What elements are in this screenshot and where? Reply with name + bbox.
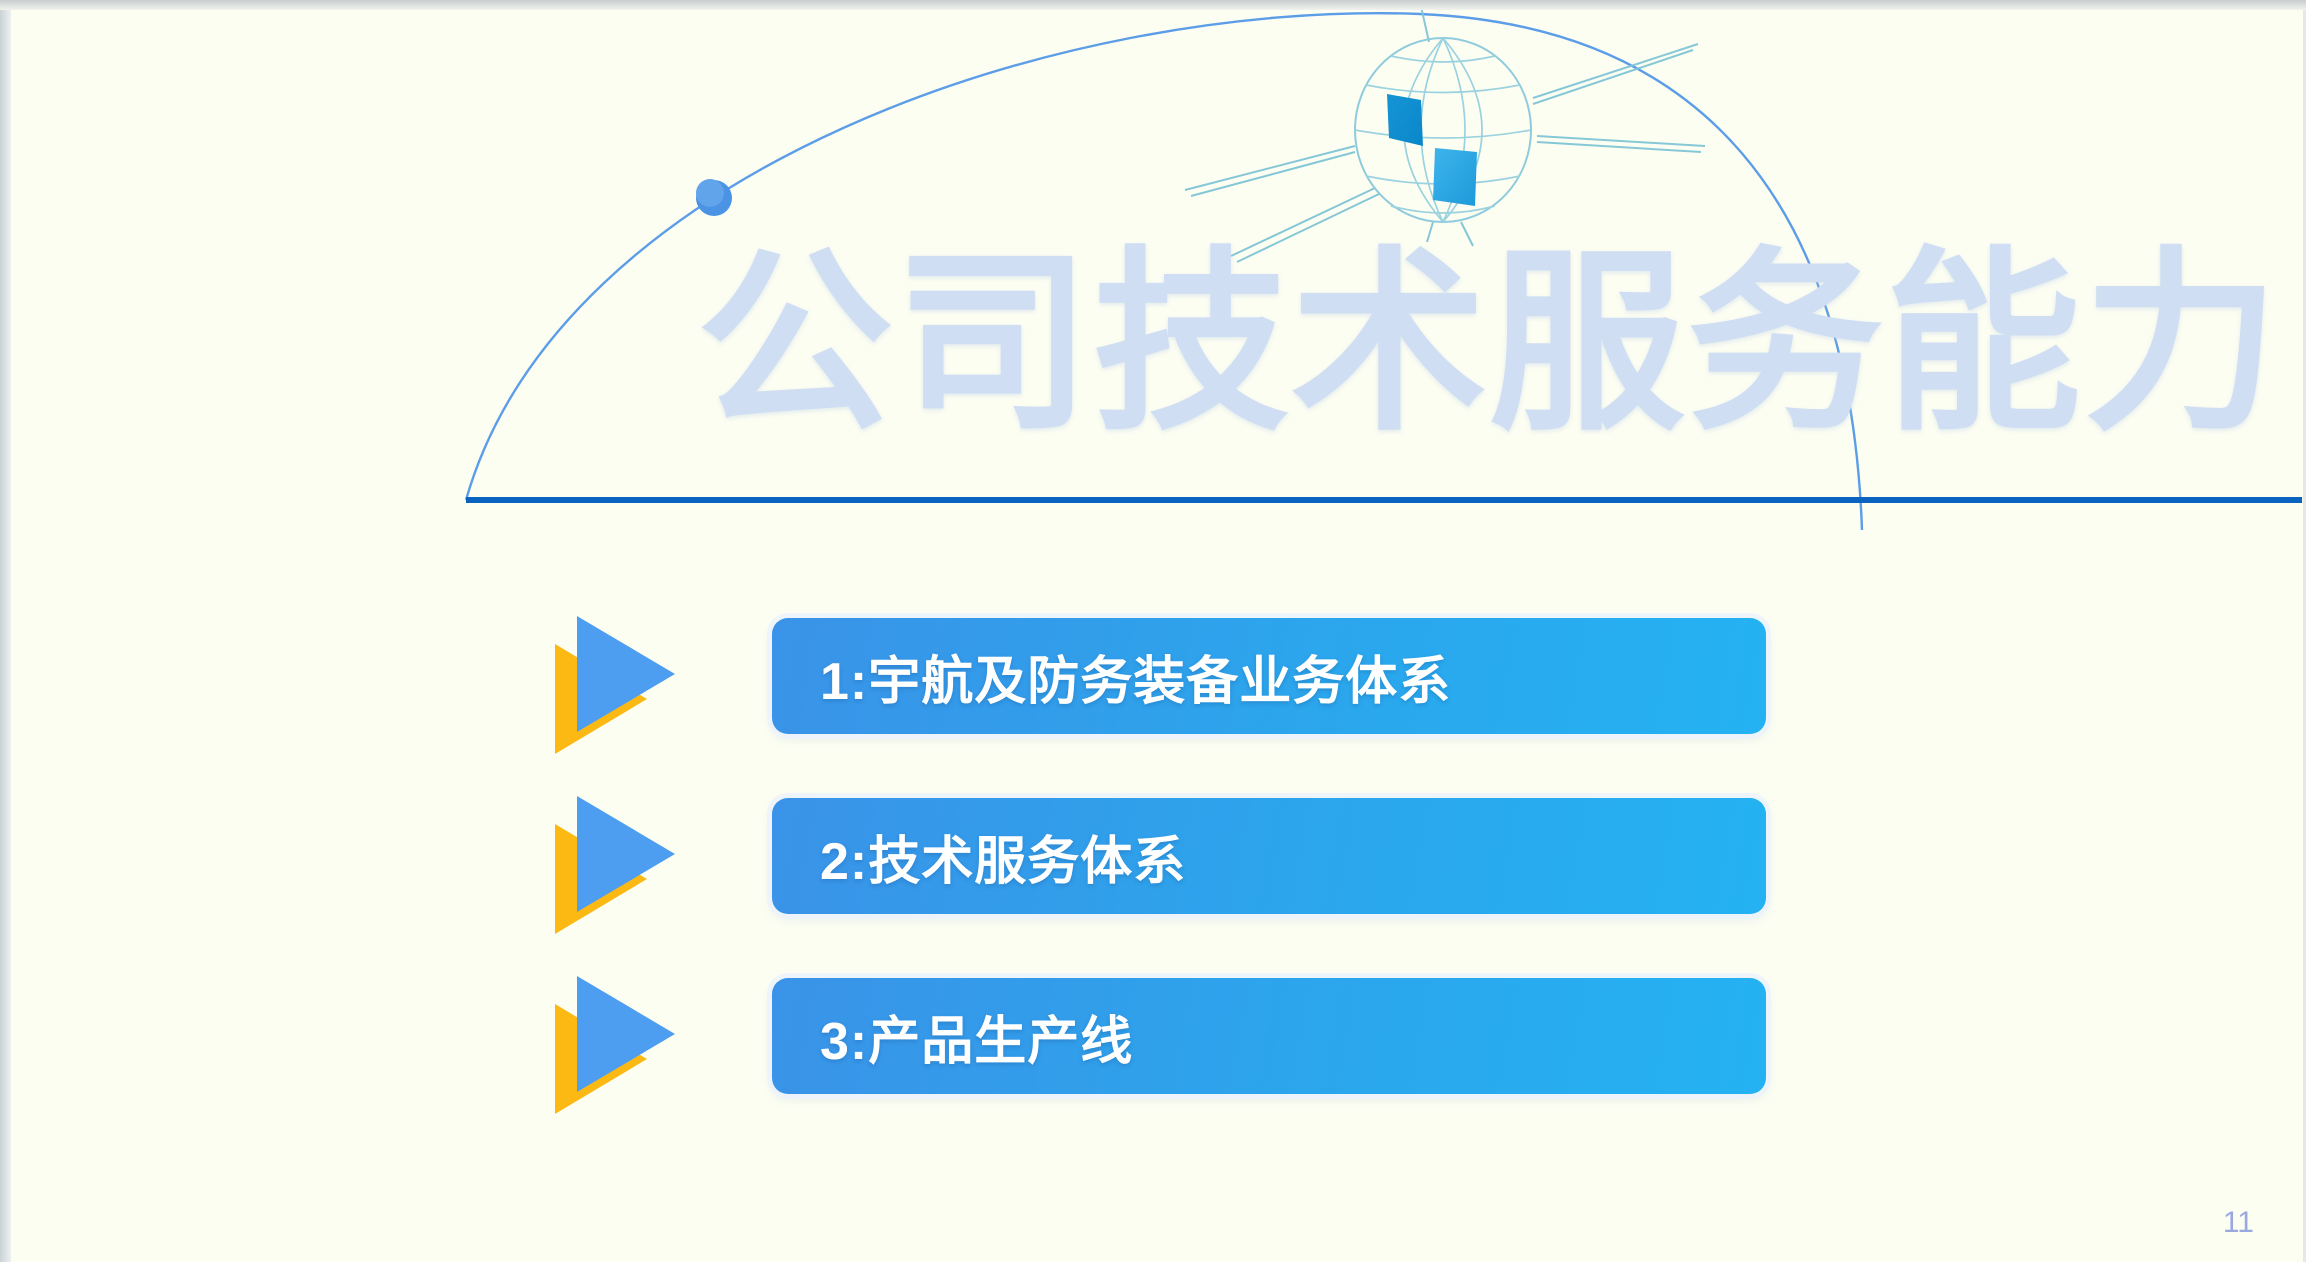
section-bar-3[interactable]: 3:产品生产线 bbox=[772, 978, 1766, 1094]
section-label: 1:宇航及防务装备业务体系 bbox=[820, 639, 1451, 714]
list-item[interactable]: 2:技术服务体系 bbox=[0, 780, 2306, 960]
globe-cell-lower bbox=[1433, 148, 1477, 206]
play-triangle-icon bbox=[555, 612, 705, 762]
play-triangle-icon bbox=[555, 792, 705, 942]
page-title: 公司技术服务能力 bbox=[697, 238, 2281, 450]
viewer-frame-top bbox=[0, 0, 2306, 10]
list-item[interactable]: 1:宇航及防务装备业务体系 bbox=[0, 600, 2306, 780]
section-bar-1[interactable]: 1:宇航及防务装备业务体系 bbox=[772, 618, 1766, 734]
page-number: 11 bbox=[2223, 1206, 2254, 1240]
viewer-frame-left bbox=[0, 0, 11, 1262]
list-item[interactable]: 3:产品生产线 bbox=[0, 960, 2306, 1140]
globe-cell-upper bbox=[1387, 94, 1423, 146]
section-label: 3:产品生产线 bbox=[820, 999, 1133, 1074]
section-bar-2[interactable]: 2:技术服务体系 bbox=[772, 798, 1766, 914]
triangle-front-shape bbox=[577, 616, 675, 732]
section-list: 1:宇航及防务装备业务体系 2:技术服务体系 3:产品生产线 bbox=[0, 600, 2306, 1140]
triangle-front-shape bbox=[577, 796, 675, 912]
section-label: 2:技术服务体系 bbox=[820, 819, 1186, 894]
slide-canvas: 公司技术服务能力 1:宇航及防务装备业务体系 2:技术服务体系 bbox=[0, 0, 2306, 1262]
wireframe-globe-icon bbox=[1185, 2, 1705, 262]
arc-dot-icon bbox=[696, 179, 732, 216]
triangle-front-shape bbox=[577, 976, 675, 1092]
play-triangle-icon bbox=[555, 972, 705, 1122]
